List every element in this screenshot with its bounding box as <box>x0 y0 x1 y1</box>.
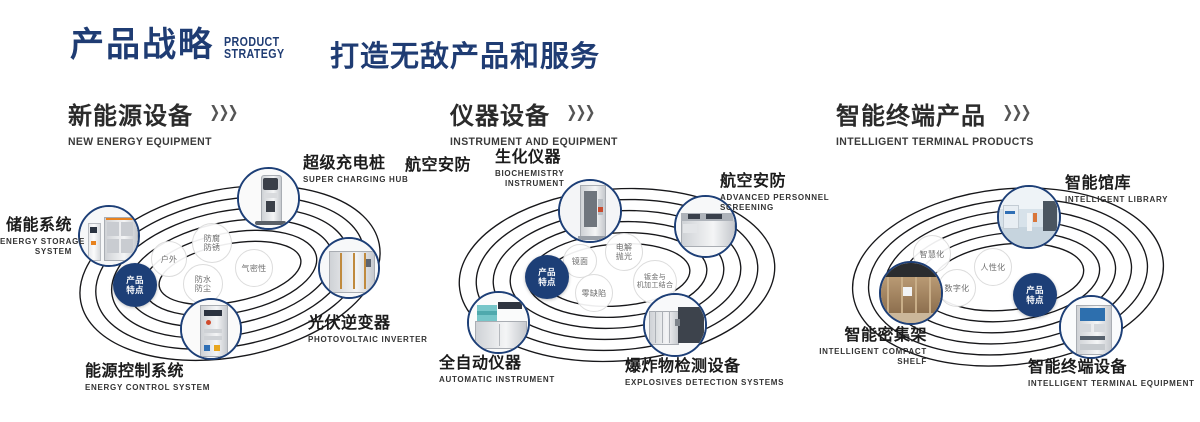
label-en: INTELLIGENT LIBRARY <box>1065 195 1168 205</box>
node-image-intelligent-compact-shelf[interactable] <box>879 261 943 325</box>
page-title-en-line2: STRATEGY <box>224 48 285 60</box>
label-intelligent-compact-shelf: 智能密集架 INTELLIGENT COMPACT SHELF <box>807 327 927 367</box>
node-image-automatic-instrument[interactable] <box>467 291 530 354</box>
chevron-right-icon: ❯❯❯ <box>567 102 594 122</box>
label-intelligent-library: 智能馆库 INTELLIGENT LIBRARY <box>1065 175 1168 205</box>
feature-bubble: 户外 <box>151 241 187 277</box>
label-en: INTELLIGENT COMPACT SHELF <box>807 347 927 367</box>
node-image-energy-storage[interactable] <box>78 205 140 267</box>
feature-core-bubble: 产品特点 <box>113 263 157 307</box>
node-image-explosives-detection[interactable] <box>643 293 707 357</box>
label-photovoltaic-inverter: 光伏逆变器 PHOTOVOLTAIC INVERTER <box>308 315 428 345</box>
section-title-cn: 智能终端产品 <box>836 96 986 131</box>
label-cn: 超级充电桩 <box>303 155 409 173</box>
node-image-energy-control-system[interactable] <box>180 298 242 360</box>
label-cn: 光伏逆变器 <box>308 315 428 333</box>
section-heading-instrument: 仪器设备 ❯❯❯ INSTRUMENT AND EQUIPMENT <box>450 96 627 148</box>
cluster-new-energy: 户外 防腐防锈 防水防尘 气密性 产品特点 <box>40 155 420 390</box>
label-en: ENERGY CONTROL SYSTEM <box>85 383 210 393</box>
label-energy-control-system: 能源控制系统 ENERGY CONTROL SYSTEM <box>85 363 210 393</box>
feature-bubble: 防腐防锈 <box>192 223 232 263</box>
explosives-detection-photo <box>645 295 705 355</box>
node-image-super-charging-hub[interactable] <box>237 167 300 230</box>
label-cn: 爆炸物检测设备 <box>625 358 784 376</box>
label-cn: 全自动仪器 <box>439 355 555 373</box>
label-aviation-security-left: 航空安防 <box>405 157 471 175</box>
section-title-en: INTELLIGENT TERMINAL PRODUCTS <box>836 136 1034 148</box>
feature-bubble: 数字化 <box>938 269 976 307</box>
photovoltaic-inverter-photo <box>320 239 378 297</box>
section-title-cn: 新能源设备 <box>68 96 193 131</box>
feature-core-bubble: 产品特点 <box>525 255 569 299</box>
label-super-charging-hub: 超级充电桩 SUPER CHARGING HUB <box>303 155 409 185</box>
feature-core-bubble: 产品特点 <box>1013 273 1057 317</box>
page-title-en: PRODUCT STRATEGY <box>224 36 285 60</box>
cluster-instrument: 镜面 电解抛光 零缺陷 钣金与机加工结合 产品特点 航空安防 <box>425 155 815 390</box>
chevron-right-icon: ❯❯❯ <box>1003 102 1030 122</box>
label-en: AUTOMATIC INSTRUMENT <box>439 375 555 385</box>
label-cn: 智能密集架 <box>807 327 927 345</box>
section-heading-new-energy: 新能源设备 ❯❯❯ NEW ENERGY EQUIPMENT <box>68 96 241 148</box>
cluster-intelligent-terminal: 智慧化 数字化 人性化 产品特点 智能馆库 INTELL <box>812 155 1200 395</box>
node-image-intelligent-terminal-equipment[interactable] <box>1059 295 1123 359</box>
node-image-photovoltaic-inverter[interactable] <box>318 237 380 299</box>
chevron-right-icon: ❯❯❯ <box>210 102 237 122</box>
label-en: INTELLIGENT TERMINAL EQUIPMENT <box>1028 379 1195 389</box>
energy-control-system-photo <box>182 300 240 358</box>
label-en: SUPER CHARGING HUB <box>303 175 409 185</box>
label-energy-storage: 储能系统 ENERGY STORAGE SYSTEM <box>0 217 72 257</box>
label-en: EXPLOSIVES DETECTION SYSTEMS <box>625 378 784 388</box>
label-explosives-detection: 爆炸物检测设备 EXPLOSIVES DETECTION SYSTEMS <box>625 358 784 388</box>
label-automatic-instrument: 全自动仪器 AUTOMATIC INSTRUMENT <box>439 355 555 385</box>
label-cn: 生化仪器 <box>495 149 564 167</box>
automatic-instrument-photo <box>469 293 528 352</box>
label-cn: 智能馆库 <box>1065 175 1168 193</box>
label-intelligent-terminal-equipment: 智能终端设备 INTELLIGENT TERMINAL EQUIPMENT <box>1028 359 1195 389</box>
feature-bubble: 人性化 <box>974 248 1012 286</box>
label-en: PHOTOVOLTAIC INVERTER <box>308 335 428 345</box>
node-image-intelligent-library[interactable] <box>997 185 1061 249</box>
feature-bubble: 气密性 <box>235 249 273 287</box>
page-title-cn: 产品战略 <box>70 28 214 62</box>
intelligent-library-photo <box>999 187 1059 247</box>
label-en: BIOCHEMISTRY INSTRUMENT <box>495 169 564 189</box>
section-title-en: NEW ENERGY EQUIPMENT <box>68 136 232 148</box>
energy-storage-photo <box>80 207 138 265</box>
label-cn: 储能系统 <box>0 217 72 235</box>
label-biochemistry-instrument: 生化仪器 BIOCHEMISTRY INSTRUMENT <box>495 149 564 189</box>
intelligent-terminal-equipment-photo <box>1061 297 1121 357</box>
label-en: ENERGY STORAGE SYSTEM <box>0 237 72 257</box>
section-title-en: INSTRUMENT AND EQUIPMENT <box>450 136 618 148</box>
label-cn: 能源控制系统 <box>85 363 210 381</box>
label-cn: 智能终端设备 <box>1028 359 1195 377</box>
node-image-biochemistry-instrument[interactable] <box>558 179 622 243</box>
section-title-cn: 仪器设备 <box>450 96 550 131</box>
section-heading-intelligent-terminal: 智能终端产品 ❯❯❯ INTELLIGENT TERMINAL PRODUCTS <box>836 96 1044 148</box>
feature-bubble: 零缺陷 <box>575 274 613 312</box>
poster-root: 产品战略 PRODUCT STRATEGY 打造无敌产品和服务 新能源设备 ❯❯… <box>0 0 1200 422</box>
biochemistry-instrument-photo <box>560 181 620 241</box>
page-subtitle: 打造无敌产品和服务 <box>330 33 600 75</box>
super-charging-hub-photo <box>239 169 298 228</box>
label-cn: 航空安防 <box>405 157 471 175</box>
page-title: 产品战略 PRODUCT STRATEGY <box>70 28 298 62</box>
intelligent-compact-shelf-photo <box>881 263 941 323</box>
